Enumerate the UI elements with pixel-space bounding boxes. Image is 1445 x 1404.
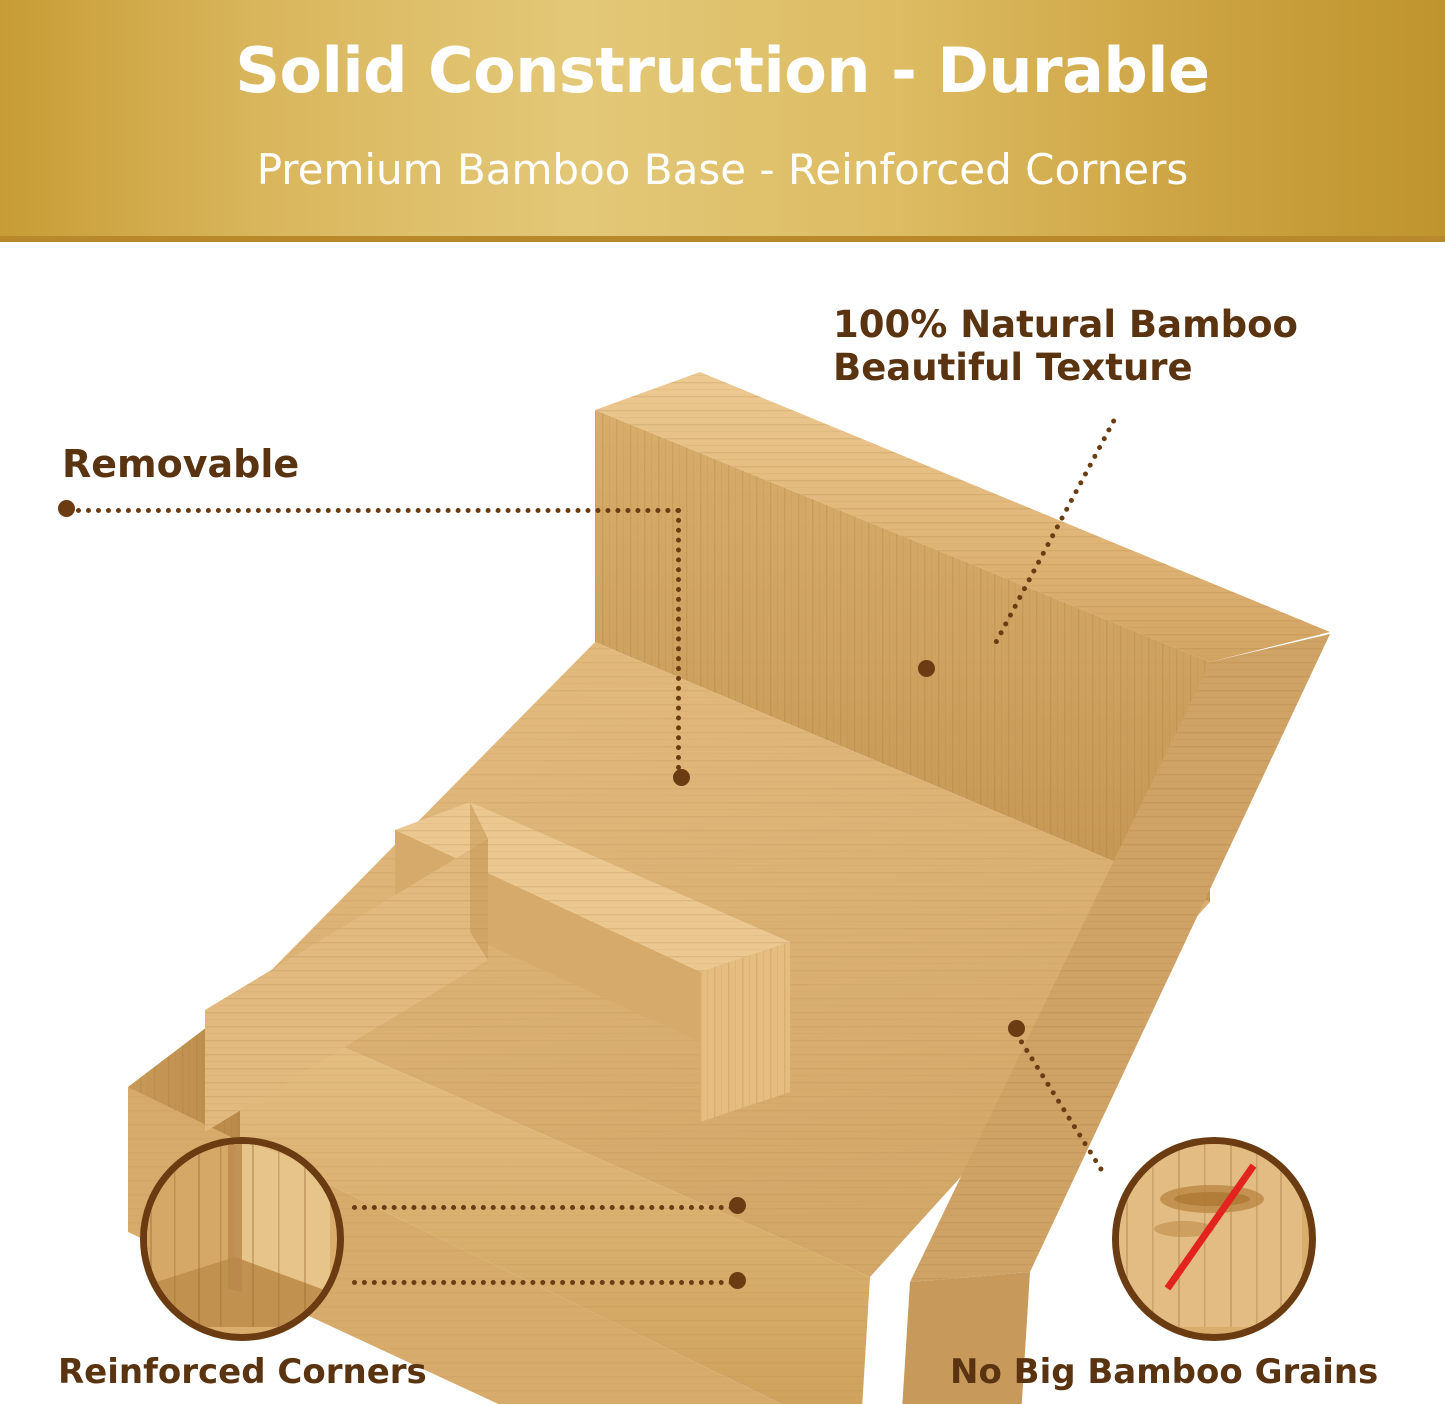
reinforced-corner-leader-1: [352, 1205, 734, 1210]
reinforced-corner-leader-2: [352, 1280, 734, 1285]
no-big-grains-caption: No Big Bamboo Grains: [950, 1352, 1378, 1392]
reinforced-corner-dot-1: [729, 1197, 746, 1214]
product-photo: Removable 100% Natural Bamboo Beautiful …: [0, 242, 1445, 1404]
annotation-removable-label: Removable: [62, 442, 299, 486]
reinforced-corner-closeup: [140, 1137, 344, 1341]
banner-title: Solid Construction - Durable: [0, 38, 1445, 103]
header-banner: Solid Construction - Durable Premium Bam…: [0, 0, 1445, 240]
banner-subtitle: Premium Bamboo Base - Reinforced Corners: [0, 148, 1445, 192]
annotation-natural-bamboo-label: 100% Natural Bamboo Beautiful Texture: [833, 304, 1298, 390]
reinforced-corners-caption: Reinforced Corners: [58, 1352, 427, 1392]
no-big-grains-closeup: [1112, 1137, 1316, 1341]
annotation-removable-dot-end: [673, 769, 690, 786]
reinforced-corner-dot-2: [729, 1272, 746, 1289]
annotation-removable-leader-2: [676, 508, 681, 780]
annotation-natural-bamboo-dot: [918, 660, 935, 677]
annotation-removable-leader-1: [66, 508, 681, 513]
